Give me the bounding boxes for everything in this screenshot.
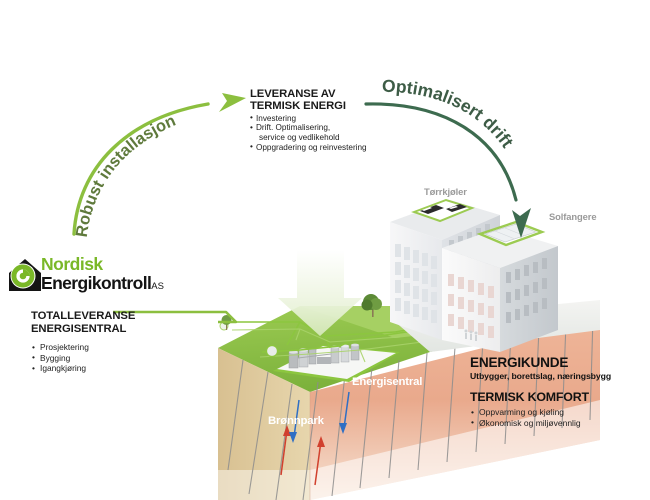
list-item: Bygging — [31, 353, 221, 364]
list-item: Investering — [250, 114, 410, 124]
delivery-text-block: LEVERANSE AV TERMISK ENERGI Investering … — [250, 88, 410, 152]
thermal-comfort-bullet-list: Oppvarming og kjøling Økonomisk og miljø… — [470, 407, 648, 429]
list-item: Drift. Optimalisering, — [250, 123, 410, 133]
total-delivery-bullet-list: Prosjektering Bygging Igangkjøring — [31, 342, 221, 374]
soil-left-fade — [218, 470, 310, 500]
customer-heading: ENERGIKUNDE — [470, 355, 648, 370]
arc-robust-installasjon — [74, 93, 246, 234]
total-delivery-text-block: TOTALLEVERANSE ENERGISENTRAL Prosjekteri… — [31, 310, 221, 374]
infographic-canvas: Robust installasjon Optimalisert drift N… — [0, 0, 650, 500]
logo-wordmark: Nordisk EnergikontrollAS — [41, 256, 164, 296]
house-leaf-logo-icon — [8, 258, 42, 292]
arc-left-label: Robust installasjon — [73, 112, 179, 239]
logo-name-line1: Nordisk — [41, 256, 164, 274]
label-dry-cooler: Tørrkjøler — [424, 186, 467, 197]
list-item: Prosjektering — [31, 342, 221, 353]
total-delivery-heading: TOTALLEVERANSE ENERGISENTRAL — [31, 310, 221, 335]
delivery-heading-line2: TERMISK ENERGI — [250, 100, 410, 112]
logo[interactable]: Nordisk EnergikontrollAS — [8, 256, 208, 302]
thermal-comfort-heading: TERMISK KOMFORT — [470, 390, 648, 404]
label-borehole-park: Brønnpark — [268, 415, 324, 427]
pipe-valve — [267, 346, 278, 357]
logo-suffix: AS — [151, 281, 164, 292]
list-item: Oppgradering og reinvestering — [250, 143, 410, 153]
customer-subheading: Utbygger, borettslag, næringsbygg — [470, 371, 648, 382]
delivery-heading: LEVERANSE AV TERMISK ENERGI — [250, 88, 410, 113]
delivery-heading-line1: LEVERANSE AV — [250, 88, 410, 100]
total-delivery-heading-line1: TOTALLEVERANSE — [31, 310, 221, 323]
list-item: Økonomisk og miljøvennlig — [470, 418, 648, 429]
customer-text-block: ENERGIKUNDE Utbygger, borettslag, næring… — [470, 355, 648, 429]
label-solar-collectors: Solfangere — [549, 211, 596, 222]
arrow-up-right-icon — [219, 93, 246, 112]
list-item: Oppvarming og kjøling — [470, 407, 648, 418]
list-item-continuation: service og vedlikehold — [250, 133, 410, 143]
logo-name-line2: EnergikontrollAS — [41, 274, 164, 297]
label-energy-central: Energisentral — [352, 376, 422, 388]
list-item: Igangkjøring — [31, 363, 221, 374]
total-delivery-heading-line2: ENERGISENTRAL — [31, 323, 221, 336]
delivery-bullet-list: Investering Drift. Optimalisering, servi… — [250, 114, 410, 152]
